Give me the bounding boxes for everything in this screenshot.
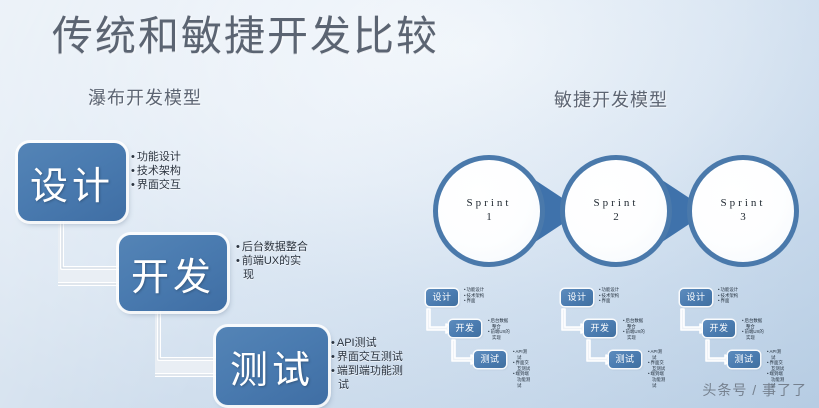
waterfall-stage-testing[interactable]: 测试: [216, 327, 328, 405]
agile-subtitle: 敏捷开发模型: [554, 88, 668, 112]
slide-canvas: 传统和敏捷开发比较 瀑布开发模型 敏捷开发模型 设计 开发 测试 功能设计 技术…: [0, 0, 819, 408]
mini-stage-development[interactable]: 开发: [584, 320, 616, 337]
mini-waterfall-diagram-1: 设计 开发 测试 功能设计 技术架构 界面 后台数据 整合 前端UX的 实现 A…: [418, 283, 568, 388]
mini-development-bullets: 后台数据 整合 前端UX的 实现: [623, 318, 645, 340]
mini-stage-design-label: 设计: [686, 293, 705, 302]
mini-stage-testing-label: 测试: [480, 355, 499, 364]
sprint-label-3: Sprint 3: [687, 196, 799, 224]
mini-stage-design-label: 设计: [567, 293, 586, 302]
bullet-item: 前端UX的: [623, 329, 645, 335]
bullet-item: 功能设计: [464, 287, 484, 293]
page-title: 传统和敏捷开发比较: [52, 8, 439, 64]
bullet-item: 前端UX的: [488, 329, 510, 335]
mini-development-bullets: 后台数据 整合 前端UX的 实现: [488, 318, 510, 340]
mini-stage-development-label: 开发: [455, 324, 474, 333]
bullet-item: 前端UX的实: [236, 254, 308, 268]
bullet-item-continuation: 试: [331, 378, 403, 392]
sprint-label-2: Sprint 2: [560, 196, 672, 224]
bullet-item-continuation: 实现: [623, 335, 645, 341]
bullet-item: 前端UX的: [742, 329, 764, 335]
waterfall-stage-development[interactable]: 开发: [119, 235, 227, 311]
bullet-item: 技术架构: [131, 164, 181, 178]
mini-stage-development[interactable]: 开发: [703, 320, 735, 337]
waterfall-stage-design[interactable]: 设计: [18, 143, 126, 221]
bullet-item: 界面交: [513, 360, 530, 366]
mini-development-bullets: 后台数据 整合 前端UX的 实现: [742, 318, 764, 340]
waterfall-testing-bullets: API测试 界面交互测试 端到端功能测 试: [331, 336, 403, 392]
mini-stage-testing-label: 测试: [734, 355, 753, 364]
bullet-item: 界面交: [648, 360, 665, 366]
mini-design-bullets: 功能设计 技术架构 界面: [718, 287, 738, 304]
mini-stage-development-label: 开发: [709, 324, 728, 333]
bullet-item: 端到端功能测: [331, 364, 403, 378]
bullet-item: 界面交: [767, 360, 784, 366]
mini-stage-development[interactable]: 开发: [449, 320, 481, 337]
waterfall-stage-development-label: 开发: [131, 246, 215, 301]
sprint-number: 1: [433, 210, 545, 224]
bullet-item: 界面交互: [131, 178, 181, 192]
bullet-item: 功能设计: [718, 287, 738, 293]
mini-stage-testing[interactable]: 测试: [728, 351, 760, 368]
bullet-item-continuation: 试: [513, 383, 530, 389]
mini-stage-design-label: 设计: [432, 293, 451, 302]
mini-stage-testing[interactable]: 测试: [474, 351, 506, 368]
waterfall-stage-testing-label: 测试: [230, 339, 314, 394]
bullet-item: 后台数据: [488, 318, 510, 324]
mini-design-bullets: 功能设计 技术架构 界面: [599, 287, 619, 304]
bullet-item: 界面: [464, 298, 484, 304]
mini-stage-design[interactable]: 设计: [426, 289, 458, 306]
mini-design-bullets: 功能设计 技术架构 界面: [464, 287, 484, 304]
mini-testing-bullets: API测 试 界面交 互测试 端到端 功能测 试: [513, 349, 530, 388]
bullet-item: 功能设计: [599, 287, 619, 293]
bullet-item: 界面交互测试: [331, 350, 403, 364]
sprint-number: 2: [560, 210, 672, 224]
bullet-item: 后台数据: [623, 318, 645, 324]
bullet-item: 界面: [718, 298, 738, 304]
sprint-name: Sprint: [594, 197, 639, 209]
mini-stage-testing-label: 测试: [615, 355, 634, 364]
mini-testing-bullets: API测 试 界面交 互测试 端到端 功能测 试: [648, 349, 665, 388]
bullet-item-continuation: 实现: [742, 335, 764, 341]
mini-stage-development-label: 开发: [590, 324, 609, 333]
bullet-item: 后台数据整合: [236, 240, 308, 254]
mini-stage-design[interactable]: 设计: [561, 289, 593, 306]
waterfall-stage-design-label: 设计: [30, 155, 114, 210]
bullet-item: API测试: [331, 336, 403, 350]
waterfall-subtitle: 瀑布开发模型: [88, 86, 202, 110]
sprint-number: 3: [687, 210, 799, 224]
bullet-item-continuation: 现: [236, 268, 308, 282]
waterfall-design-bullets: 功能设计 技术架构 界面交互: [131, 150, 181, 192]
waterfall-development-bullets: 后台数据整合 前端UX的实 现: [236, 240, 308, 282]
bullet-item: 功能设计: [131, 150, 181, 164]
bullet-item-continuation: 实现: [488, 335, 510, 341]
bullet-item: 后台数据: [742, 318, 764, 324]
mini-stage-design[interactable]: 设计: [680, 289, 712, 306]
mini-waterfall-diagram-3: 设计 开发 测试 功能设计 技术架构 界面 后台数据 整合 前端UX的 实现 A…: [672, 283, 819, 388]
bullet-item-continuation: 试: [648, 383, 665, 389]
mini-stage-testing[interactable]: 测试: [609, 351, 641, 368]
sprint-name: Sprint: [467, 197, 512, 209]
sprint-name: Sprint: [721, 197, 766, 209]
sprint-label-1: Sprint 1: [433, 196, 545, 224]
bullet-item: 界面: [599, 298, 619, 304]
bullet-item-continuation: 功能测: [513, 377, 530, 383]
watermark: 头条号 / 事了了: [702, 380, 807, 400]
bullet-item-continuation: 功能测: [648, 377, 665, 383]
